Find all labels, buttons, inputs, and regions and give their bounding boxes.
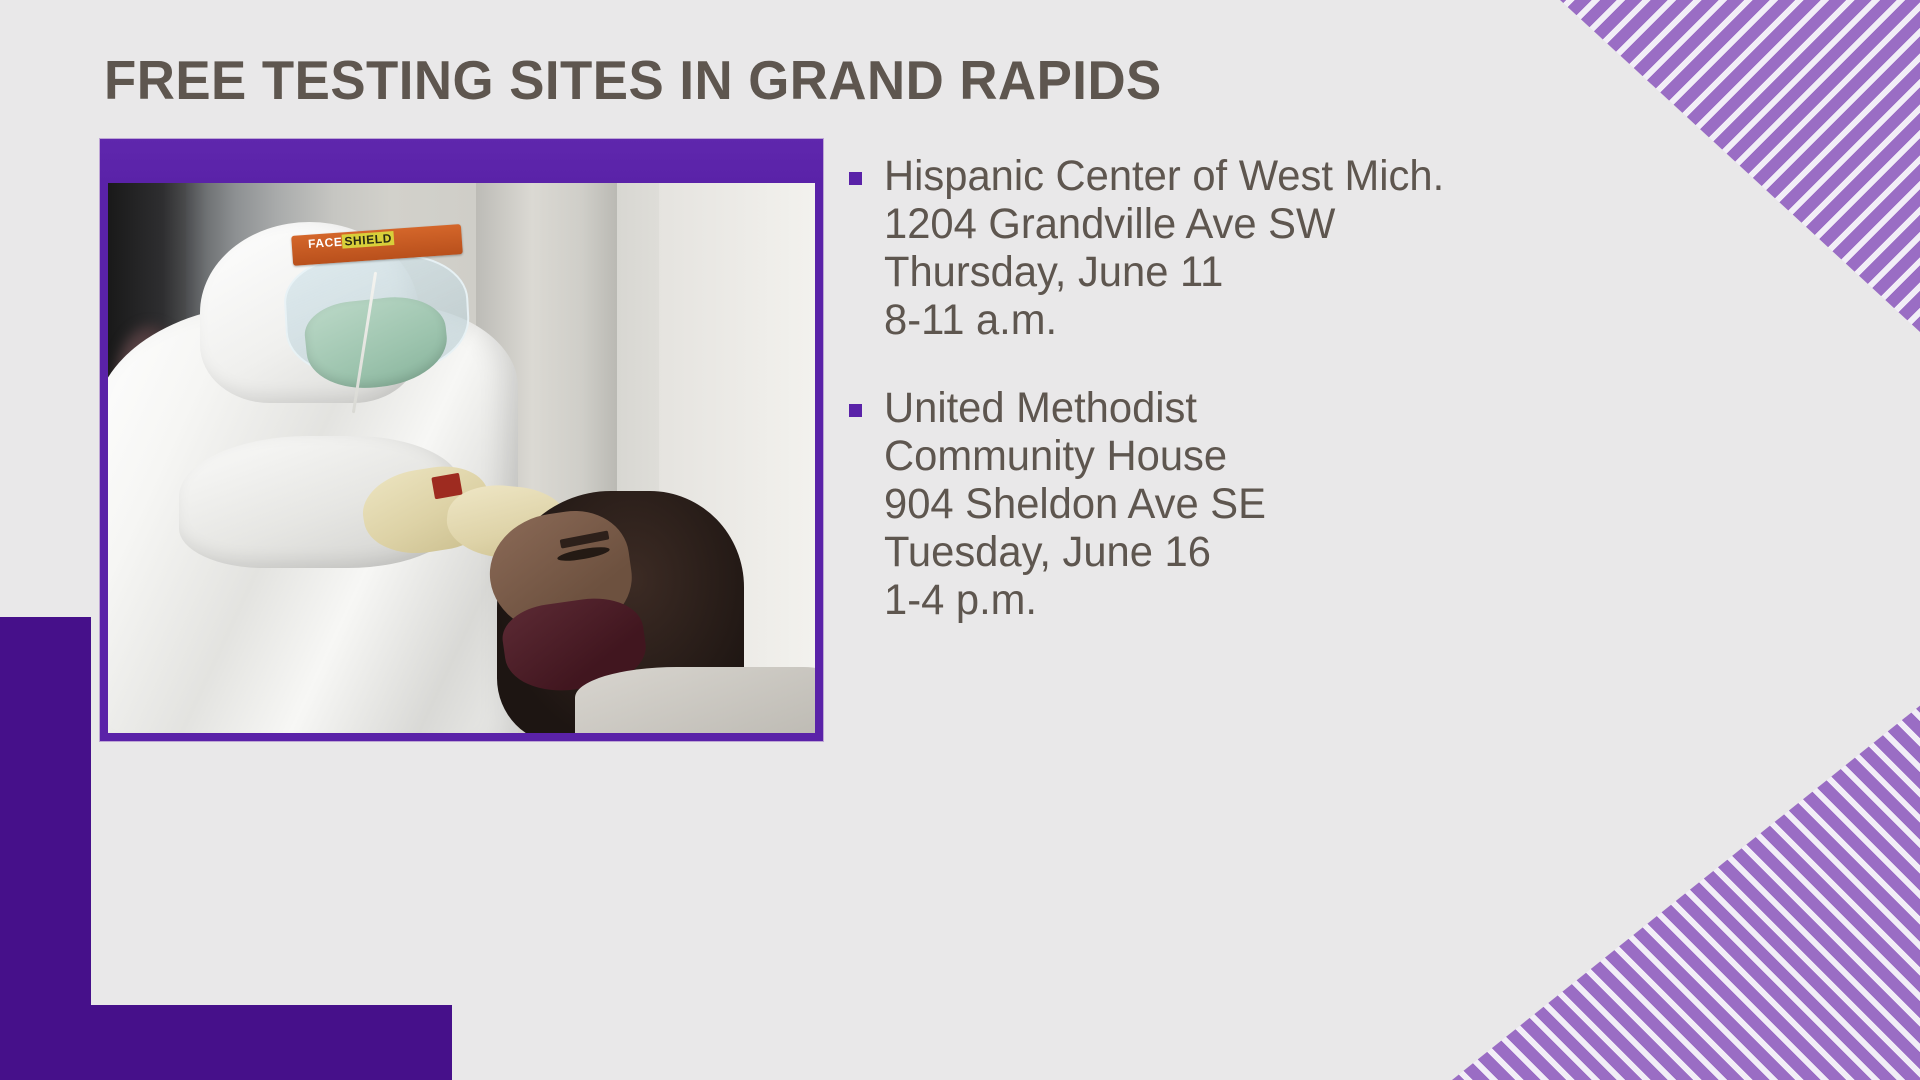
site-date: Tuesday, June 16 [884, 528, 1266, 576]
photo-top-band [100, 139, 823, 183]
site-details: United Methodist Community House 904 She… [884, 384, 1278, 624]
site-address: 1204 Grandville Ave SW [884, 200, 1444, 248]
striped-corner-bottom-right [1320, 600, 1920, 1080]
photo-image: FACESHIELD [108, 183, 815, 733]
purple-block-bottom [0, 1005, 452, 1080]
list-item: Hispanic Center of West Mich. 1204 Grand… [849, 152, 1489, 344]
site-time: 1-4 p.m. [884, 576, 1266, 624]
photo-card: FACESHIELD [100, 139, 823, 741]
site-name-line-1: United Methodist [884, 384, 1266, 432]
bullet-square-icon [849, 172, 862, 185]
page-title: FREE TESTING SITES IN GRAND RAPIDS [104, 48, 1162, 112]
patient-shoulder [575, 667, 815, 733]
testing-sites-list: Hispanic Center of West Mich. 1204 Grand… [849, 152, 1489, 664]
face-shield-label-prefix: FACE [308, 234, 343, 250]
site-name-line-2: Community House [884, 432, 1266, 480]
list-item: United Methodist Community House 904 She… [849, 384, 1489, 624]
site-name: Hispanic Center of West Mich. [884, 152, 1444, 200]
bullet-square-icon [849, 404, 862, 417]
site-details: Hispanic Center of West Mich. 1204 Grand… [884, 152, 1462, 344]
site-address: 904 Sheldon Ave SE [884, 480, 1266, 528]
site-date: Thursday, June 11 [884, 248, 1444, 296]
site-time: 8-11 a.m. [884, 296, 1444, 344]
